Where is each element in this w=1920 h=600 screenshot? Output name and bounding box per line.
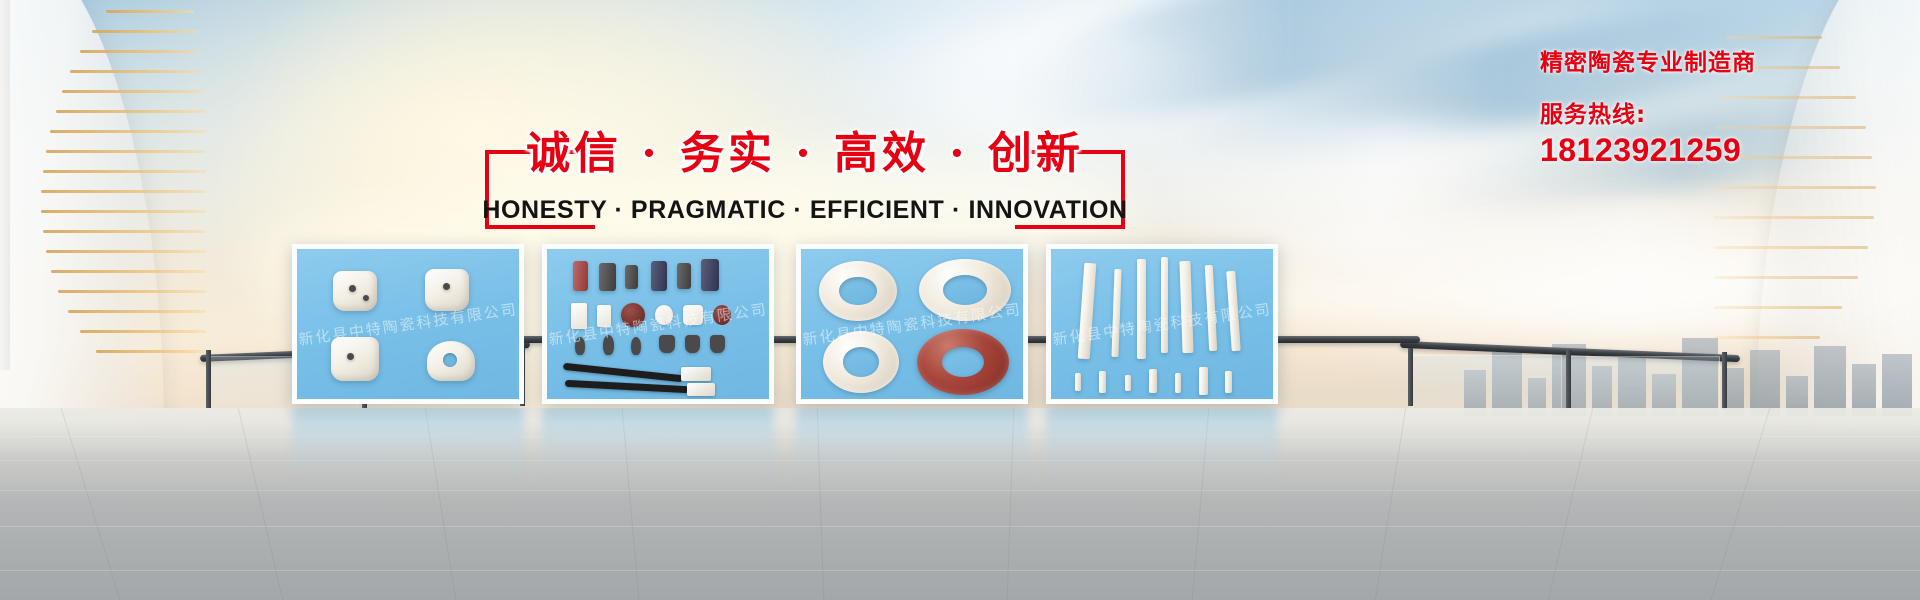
panel-watermark: 新化县中特陶瓷科技有限公司 [297,298,519,350]
ceramic-ring-small [621,303,645,327]
ceramic-chip [655,305,673,325]
building [1492,352,1522,416]
rail-post [1408,348,1413,406]
floor-line [0,490,1920,491]
ceramic-hole [347,353,354,360]
louvre [58,290,206,293]
ceramic-tube [651,261,667,291]
louvre [1714,186,1876,189]
ceramic-rod-small [1075,373,1081,391]
slogan-block: 诚信 · 务实 · 高效 · 创新 HONESTY · PRAGMATIC · … [485,112,1125,222]
metal-part [575,337,585,355]
floor-line [0,570,1920,571]
product-panel-4[interactable]: 新化县中特陶瓷科技有限公司 [1046,244,1278,404]
cloud [1400,200,1920,330]
louvre [1726,36,1822,39]
ceramic-rod-small [1199,367,1208,395]
hero-banner: 诚信 · 务实 · 高效 · 创新 HONESTY · PRAGMATIC · … [0,0,1920,600]
panel-reflection [796,408,1028,482]
ceramic-rod [1137,259,1146,359]
metal-part [685,335,700,353]
metal-part [659,335,675,353]
wire-assembly [565,380,689,393]
louvre [70,70,202,73]
ceramic-part [333,271,377,311]
ceramic-rod [1179,261,1193,353]
building [1552,344,1586,416]
floor-line [0,526,1920,527]
ceramic-chip [713,305,731,325]
ceramic-hole [349,285,356,292]
building [1882,354,1912,416]
connector [687,383,715,396]
ceramic-part [331,337,379,381]
louvre [80,50,200,53]
ceramic-chip [597,305,611,327]
terrace-floor [0,408,1920,600]
ceramic-rod [1226,271,1241,351]
louvre [51,270,206,273]
panel-reflection [1046,408,1278,482]
building [1814,346,1846,416]
ceramic-tube [599,263,616,291]
ceramic-tube [677,263,691,289]
ceramic-rod-small [1125,375,1131,391]
ceramic-rod-small [1175,373,1181,393]
panel-reflection [292,408,524,482]
ceramic-hole [443,283,450,290]
louvre [96,350,206,353]
louvre [43,230,206,233]
louvre [1714,216,1874,219]
louvre [1714,246,1868,249]
louvre [56,110,206,113]
contact-block: 精密陶瓷专业制造商 服务热线: 18123921259 [1540,48,1870,170]
ceramic-part [425,269,469,311]
curved-wall [0,0,164,430]
ceramic-tube [573,261,588,291]
slogan-chinese: 诚信 · 务实 · 高效 · 创新 [485,112,1125,186]
rail-post [206,350,211,408]
product-panel-2[interactable]: 新化县中特陶瓷科技有限公司 [542,244,774,404]
ceramic-rod [1161,257,1168,353]
product-panel-3[interactable]: 新化县中特陶瓷科技有限公司 [796,244,1028,404]
slogan-english: HONESTY · PRAGMATIC · EFFICIENT · INNOVA… [485,194,1125,226]
louvre [106,10,194,13]
ceramic-tube [625,265,638,289]
building [1682,338,1718,416]
louvre [41,210,206,213]
wire-assembly [563,363,683,383]
louvre [92,30,198,33]
ceramic-ring [819,261,897,321]
ceramic-rod [1111,269,1121,357]
ceramic-rod [1078,263,1097,360]
ceramic-tube [701,259,719,291]
seal-ring [917,329,1009,395]
ceramic-ring [823,331,899,393]
ceramic-rod-small [1099,371,1106,393]
hotline-number[interactable]: 18123921259 [1540,130,1870,170]
louvre [1714,306,1842,309]
pillar [0,0,10,370]
hotline-label: 服务热线: [1540,100,1870,130]
ceramic-ring [919,259,1011,321]
building [1750,350,1780,416]
louvre [46,250,206,253]
louvre [68,310,206,313]
company-tagline: 精密陶瓷专业制造商 [1540,48,1870,78]
product-panel-group: 新化县中特陶瓷科技有限公司 新化县中特陶瓷 [292,244,1352,404]
ceramic-hole [443,353,457,367]
panel-reflection [542,408,774,482]
ceramic-chip [571,303,587,329]
ceramic-chip [683,305,703,325]
metal-part [631,337,641,355]
ceramic-rod [1205,265,1217,351]
city-skyline [1450,316,1920,416]
building [1618,356,1646,416]
product-panel-1[interactable]: 新化县中特陶瓷科技有限公司 [292,244,524,404]
connector [681,367,711,381]
ceramic-hole [363,295,369,301]
louvre [50,130,206,133]
louvre [80,330,206,333]
metal-part [603,335,614,355]
louvre [62,90,204,93]
metal-part [710,335,725,353]
ceramic-rod-small [1225,371,1232,393]
ceramic-rod-small [1149,369,1157,393]
louvre [1714,276,1858,279]
